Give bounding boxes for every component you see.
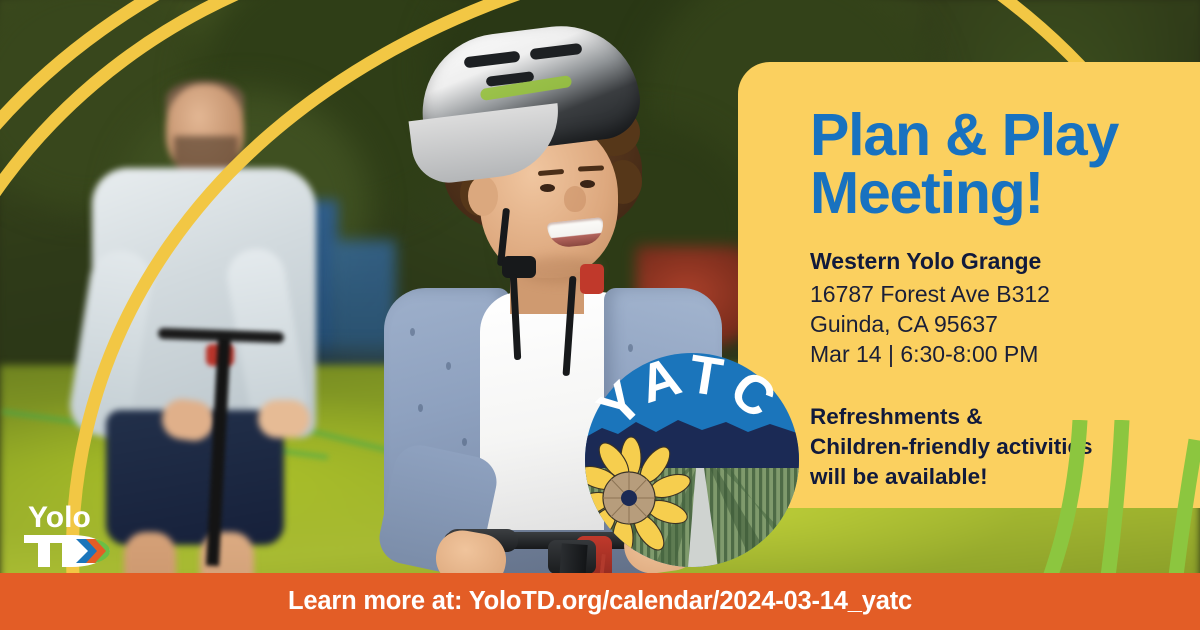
event-datetime: Mar 14 | 6:30-8:00 PM <box>810 339 1200 369</box>
child-nose <box>564 186 586 212</box>
refreshments-line-3: will be available! <box>810 462 1200 492</box>
yolotd-logo-wordmark: Yolo <box>28 501 91 534</box>
adult-hand <box>258 400 310 438</box>
address-line-2: Guinda, CA 95637 <box>810 309 1200 339</box>
child-eye <box>580 180 595 188</box>
helmet-strap-clip <box>580 264 604 294</box>
venue-name: Western Yolo Grange <box>810 247 1200 277</box>
learn-more-url[interactable]: Learn more at: YoloTD.org/calendar/2024-… <box>288 587 912 616</box>
yolotd-logo: Yolo <box>22 497 122 569</box>
page-title: Plan & Play Meeting! <box>810 106 1200 223</box>
refreshments-note: Refreshments & Children-friendly activit… <box>810 402 1200 492</box>
refreshments-line-1: Refreshments & <box>810 402 1200 432</box>
info-card: Plan & Play Meeting! Western Yolo Grange… <box>738 62 1200 508</box>
child-ear <box>468 176 498 216</box>
headline-line-1: Plan & Play <box>810 106 1200 164</box>
footer-banner: Learn more at: YoloTD.org/calendar/2024-… <box>0 573 1200 630</box>
refreshments-line-2: Children-friendly activities <box>810 432 1200 462</box>
helmet-strap-buckle <box>502 256 536 278</box>
poster: Plan & Play Meeting! Western Yolo Grange… <box>0 0 1200 630</box>
headline-line-2: Meeting! <box>810 164 1200 222</box>
yatc-logo: YATC <box>584 352 800 568</box>
address-line-1: 16787 Forest Ave B312 <box>810 279 1200 309</box>
child-eye <box>540 184 555 192</box>
